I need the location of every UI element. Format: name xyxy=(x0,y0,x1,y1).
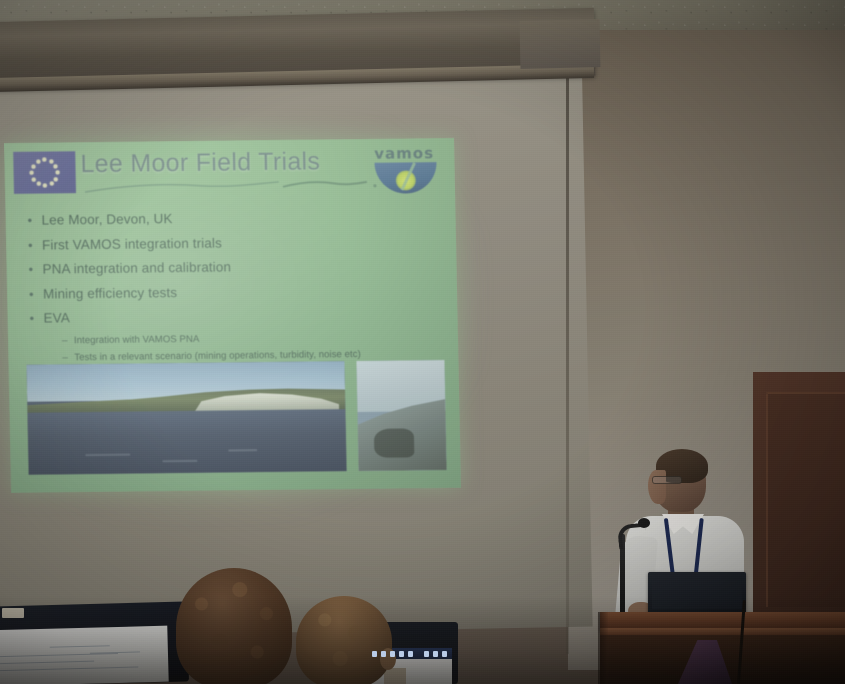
eu-star-icon xyxy=(49,182,53,186)
eu-star-icon xyxy=(36,182,40,186)
eu-star-icon xyxy=(30,171,34,175)
toolbar-icon[interactable] xyxy=(372,651,377,657)
bullet-marker-icon: • xyxy=(27,213,41,228)
slide-sub-bullet-text: Integration with VAMOS PNA xyxy=(74,333,200,345)
document-thumbnail xyxy=(384,668,406,684)
slide-bullet-item: •Lee Moor, Devon, UK xyxy=(27,208,437,228)
screen-text-line xyxy=(0,653,118,657)
eu-star-icon xyxy=(43,184,47,188)
quarry-shoreline-photo xyxy=(356,360,446,471)
eu-star-icon xyxy=(54,177,58,181)
toolbar-icon[interactable] xyxy=(408,651,413,657)
bullet-marker-icon: • xyxy=(29,311,43,326)
toolbar-icon[interactable] xyxy=(433,651,438,657)
quarry-lake-panorama-photo xyxy=(26,361,346,475)
bullet-marker-icon: • xyxy=(28,262,42,277)
screen-text-line xyxy=(0,661,94,665)
screen-text-line xyxy=(50,645,110,648)
sub-bullet-marker-icon: – xyxy=(62,335,74,346)
door-inset-panel xyxy=(766,392,845,607)
hair-texture xyxy=(176,568,292,684)
microphone-capsule-icon xyxy=(638,518,650,528)
slide-bullet-text: Lee Moor, Devon, UK xyxy=(41,211,172,228)
slide-bullet-item: •PNA integration and calibration xyxy=(28,257,438,277)
eu-star-icon xyxy=(42,158,46,162)
vamos-logo: vamos xyxy=(366,144,449,207)
slide-bullet-item: •EVA xyxy=(29,306,439,326)
slide-bullet-text: EVA xyxy=(43,310,70,326)
eu-star-icon xyxy=(49,159,53,163)
toolbar-icon[interactable] xyxy=(381,651,386,657)
screen-text-line xyxy=(0,666,138,671)
slide-bullet-text: Mining efficiency tests xyxy=(43,285,177,302)
title-underline-decoration xyxy=(83,177,403,195)
eu-star-icon xyxy=(54,164,58,168)
toolbar-icon[interactable] xyxy=(442,651,447,657)
eu-star-icon xyxy=(31,164,35,168)
conference-room-photo: Lee Moor Field Trials vamos •Lee Moor, D… xyxy=(0,0,845,684)
vamos-wordmark: vamos xyxy=(374,144,434,163)
toolbar-icon[interactable] xyxy=(390,651,395,657)
valance-end-cap xyxy=(520,19,601,69)
glasses-icon xyxy=(652,476,682,484)
projected-slide: Lee Moor Field Trials vamos •Lee Moor, D… xyxy=(4,138,461,493)
slide-bullet-text: First VAMOS integration trials xyxy=(42,235,222,253)
slide-title: Lee Moor Field Trials xyxy=(80,147,320,179)
photo-water xyxy=(27,410,346,475)
toolbar-icon[interactable] xyxy=(424,651,429,657)
slide-bullet-item: •First VAMOS integration trials xyxy=(28,233,438,253)
slide-bullet-list: •Lee Moor, Devon, UK•First VAMOS integra… xyxy=(27,208,440,369)
slide-sub-bullet-item: –Integration with VAMOS PNA xyxy=(62,331,440,346)
wall-corner-edge xyxy=(566,34,569,654)
audience-laptop-left-screen[interactable] xyxy=(0,626,169,684)
photo-ripple xyxy=(162,460,197,462)
toolbar-icon[interactable] xyxy=(399,651,404,657)
photo-ripple xyxy=(229,449,258,451)
european-union-flag-icon xyxy=(13,151,76,194)
slide-bullet-item: •Mining efficiency tests xyxy=(29,282,439,302)
presenter-laptop-screen[interactable] xyxy=(652,575,742,609)
podium-left-edge xyxy=(598,612,608,684)
eu-star-icon xyxy=(56,170,60,174)
eu-star-icon xyxy=(31,177,35,181)
eu-star-icon xyxy=(36,159,40,163)
slide-bullet-text: PNA integration and calibration xyxy=(42,259,231,277)
photo-equipment-blob xyxy=(374,429,415,458)
sub-bullet-marker-icon: – xyxy=(62,352,74,363)
presenter-laptop[interactable] xyxy=(648,572,746,616)
bullet-marker-icon: • xyxy=(29,286,43,301)
slide-photo-row xyxy=(26,360,446,475)
audience-head-light xyxy=(296,596,392,684)
bullet-marker-icon: • xyxy=(28,237,42,252)
laptop-sticker xyxy=(2,608,24,618)
hair-texture xyxy=(296,596,392,684)
audience-head-dark-curly xyxy=(176,568,292,684)
